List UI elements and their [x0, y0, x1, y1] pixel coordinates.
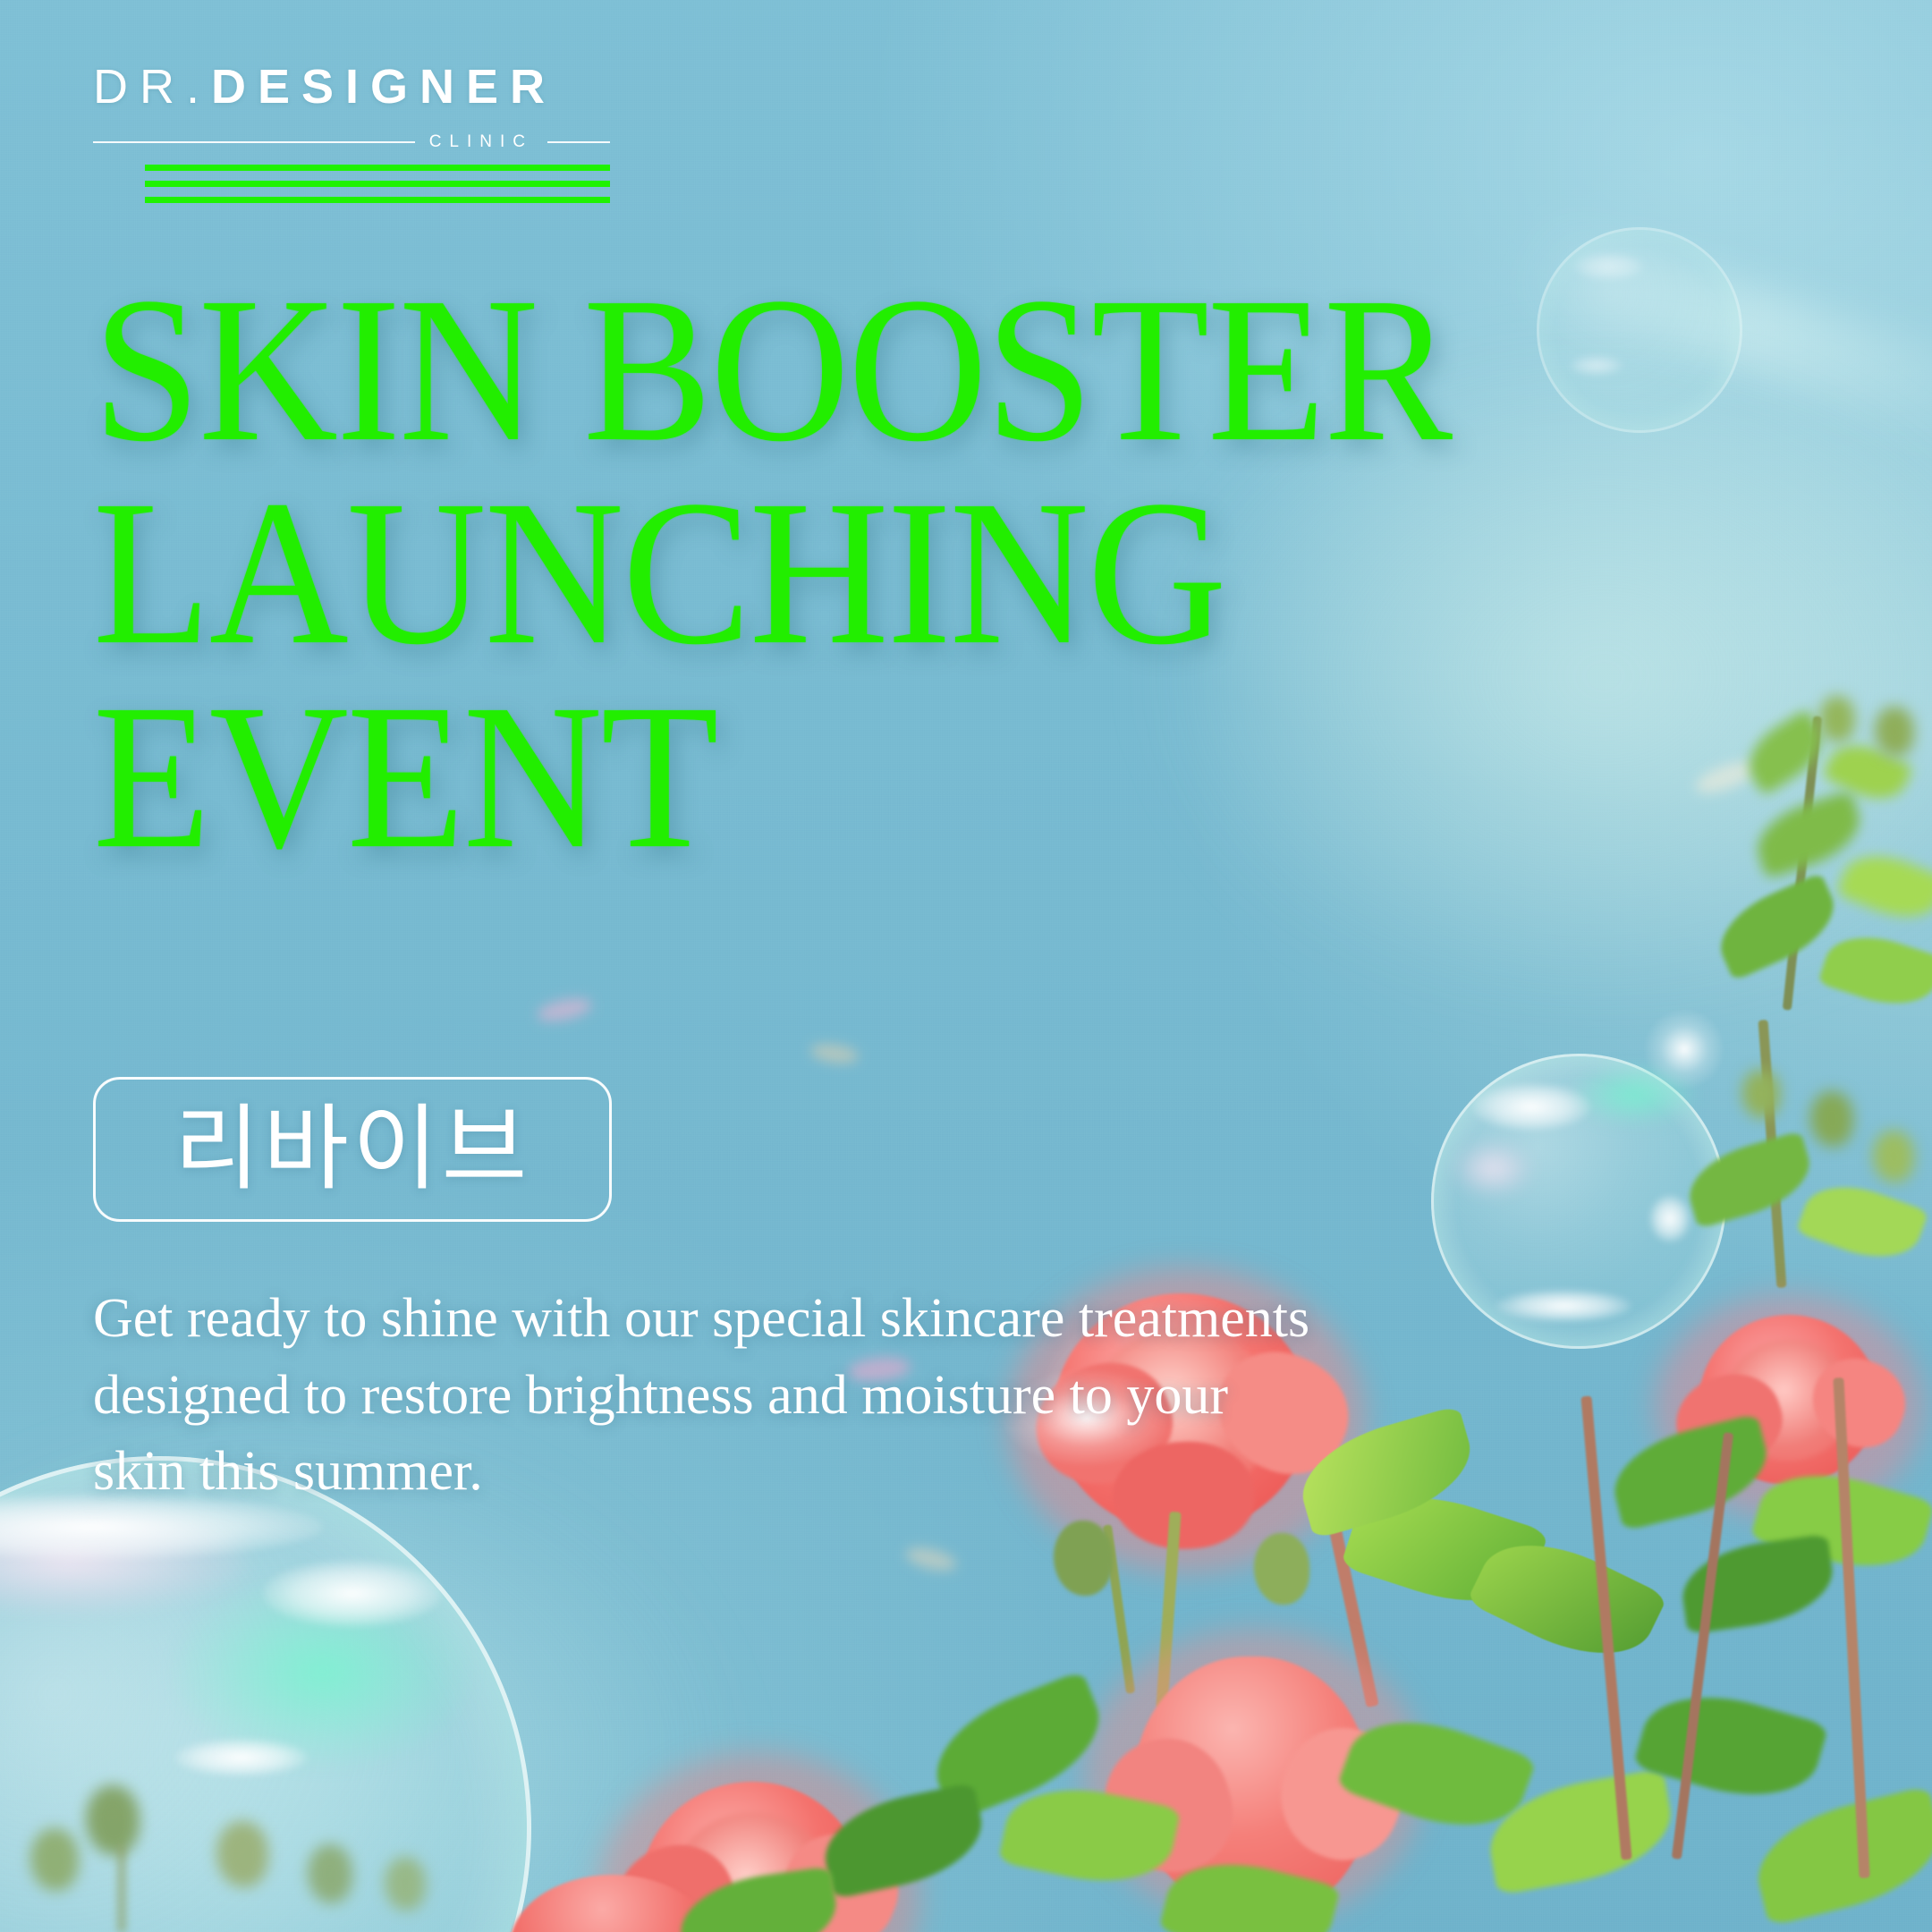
body-line-2: designed to restore brightness and moist… — [93, 1358, 1390, 1435]
page-title: SKIN BOOSTER LAUNCHING EVENT — [93, 268, 1640, 878]
sparkle-glint-icon — [1644, 1009, 1724, 1089]
body-description: Get ready to shine with our special skin… — [93, 1281, 1390, 1511]
logo-accent-bars — [93, 165, 610, 203]
logo-accent-bar — [145, 197, 610, 203]
headline-line-1: SKIN BOOSTER — [93, 268, 1640, 471]
logo[interactable]: DR.DESIGNER CLINIC — [93, 59, 612, 203]
product-name-label: 리바이브 — [174, 1103, 531, 1196]
logo-accent-bar — [145, 181, 610, 187]
logo-subtitle: CLINIC — [429, 132, 533, 152]
logo-accent-bar — [145, 165, 610, 171]
body-line-1: Get ready to shine with our special skin… — [93, 1281, 1390, 1358]
headline-line-3: EVENT — [93, 675, 1640, 878]
logo-subtitle-row: CLINIC — [93, 132, 610, 152]
headline-line-2: LAUNCHING — [93, 471, 1640, 674]
logo-word-thin: DR. — [93, 60, 211, 114]
logo-divider-right — [547, 141, 610, 143]
logo-word-bold: DESIGNER — [211, 60, 556, 114]
logo-wordmark: DR.DESIGNER — [93, 59, 612, 114]
product-name-badge: 리바이브 — [93, 1077, 612, 1222]
poster-canvas: DR.DESIGNER CLINIC SKIN BOOSTER LAUNCHIN… — [0, 0, 1932, 1932]
logo-divider-left — [93, 141, 415, 143]
body-line-3: skin this summer. — [93, 1434, 1390, 1511]
